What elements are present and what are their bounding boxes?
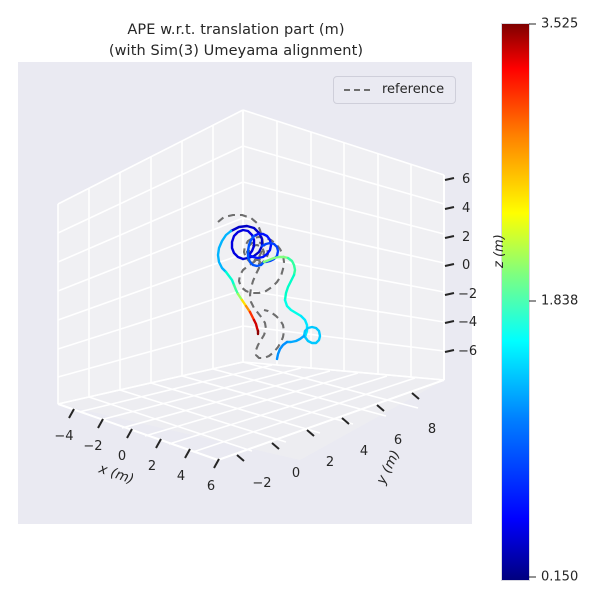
z-axis-ticks (445, 178, 454, 352)
x-tick-label: 4 (177, 469, 185, 484)
z-tick-label: 6 (462, 172, 470, 187)
x-tick-label: −2 (83, 439, 102, 454)
x-axis-label: x (m) (96, 460, 136, 487)
colorbar-tick-mid: 1.838 (529, 294, 578, 309)
y-tick-label: 2 (326, 455, 334, 470)
colorbar-tick-max: 3.525 (529, 17, 578, 32)
z-tick-label: −4 (458, 315, 477, 330)
legend-label-reference: reference (382, 82, 444, 97)
figure-canvas: APE w.r.t. translation part (m) (with Si… (0, 0, 600, 600)
x-tick-label: 0 (118, 449, 126, 464)
colorbar-axis-label: z (m) (492, 234, 507, 268)
colorbar-tick-min: 0.150 (529, 570, 578, 585)
x-tick-label: −4 (54, 429, 73, 444)
y-tick-label: −2 (252, 476, 271, 491)
y-tick-label: 4 (360, 444, 368, 459)
legend-dash-icon (343, 85, 373, 95)
z-tick-label: −6 (458, 344, 477, 359)
y-tick-label: 0 (292, 466, 300, 481)
z-tick-label: 0 (462, 258, 470, 273)
colorbar-tick-dash-icon (529, 576, 536, 577)
colorbar-tick-label: 1.838 (541, 294, 578, 309)
z-tick-label: 2 (462, 230, 470, 245)
colorbar-tick-label: 0.150 (541, 570, 578, 585)
legend[interactable]: reference (333, 76, 456, 104)
y-tick-label: 8 (428, 422, 436, 437)
colorbar-tick-dash-icon (529, 23, 536, 24)
colorbar[interactable] (501, 23, 530, 581)
colorbar-tick-label: 3.525 (541, 17, 578, 32)
z-tick-label: 4 (462, 201, 470, 216)
x-tick-label: 6 (207, 479, 215, 494)
z-tick-label: −2 (458, 287, 477, 302)
x-tick-label: 2 (148, 459, 156, 474)
y-tick-label: 6 (394, 433, 402, 448)
z-axis: 6 4 2 0 −2 −4 −6 (445, 172, 477, 359)
colorbar-tick-dash-icon (529, 300, 536, 301)
y-axis-label: y (m) (373, 448, 404, 488)
